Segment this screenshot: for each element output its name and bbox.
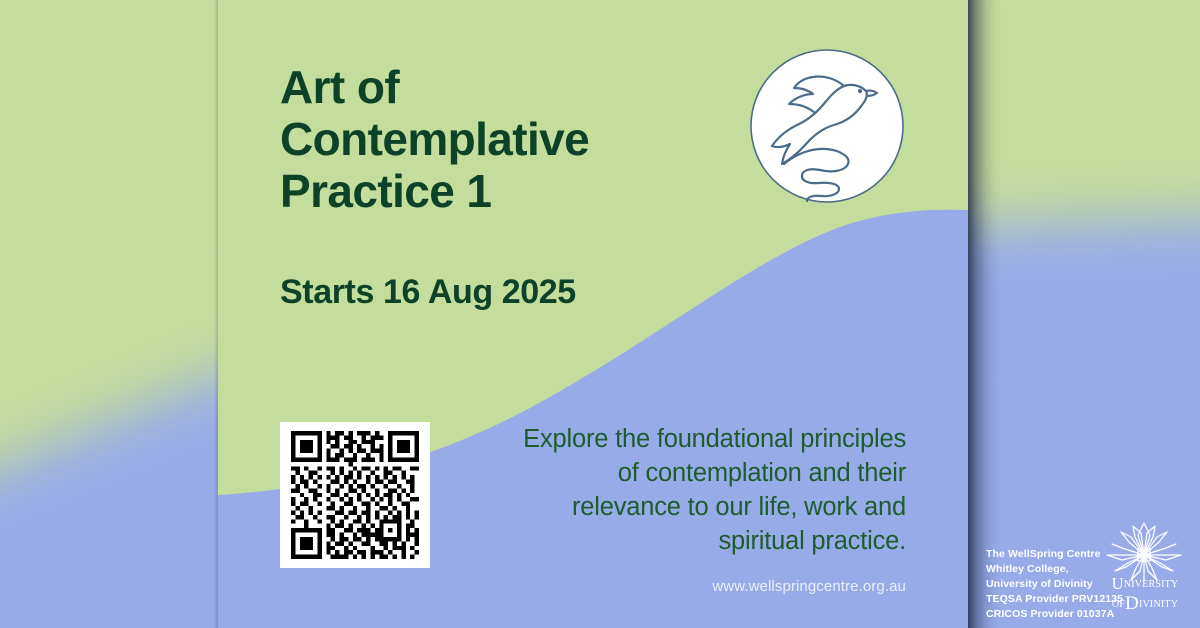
qr-code-icon	[290, 431, 420, 559]
wordmark-niversity: NIVERSITY	[1124, 579, 1179, 590]
wordmark-line-university: UNIVERSITY	[1098, 576, 1192, 593]
qr-code[interactable]	[280, 422, 430, 568]
wordmark-of: OF	[1112, 599, 1125, 610]
title-line-3: Practice 1	[280, 166, 680, 218]
title-line-1: Art of	[280, 62, 680, 114]
university-of-divinity-wordmark: UNIVERSITY OFDIVINITY	[1098, 576, 1192, 613]
wordmark-line-divinity: OFDIVINITY	[1098, 594, 1192, 613]
website-url[interactable]: www.wellspringcentre.org.au	[506, 578, 906, 595]
wordmark-ivinity: IVINITY	[1139, 599, 1178, 610]
page-title: Art of Contemplative Practice 1	[280, 62, 680, 218]
start-date-text: Starts 16 Aug 2025	[280, 273, 576, 312]
wordmark-u: U	[1112, 574, 1124, 593]
poster-canvas: Art of Contemplative Practice 1 Starts 1…	[0, 0, 1200, 628]
title-line-2: Contemplative	[280, 114, 680, 166]
wordmark-d: D	[1125, 593, 1139, 614]
description-text: Explore the foundational principles of c…	[506, 423, 906, 559]
poster-card: Art of Contemplative Practice 1 Starts 1…	[218, 0, 968, 628]
dove-over-water-icon	[748, 47, 906, 205]
